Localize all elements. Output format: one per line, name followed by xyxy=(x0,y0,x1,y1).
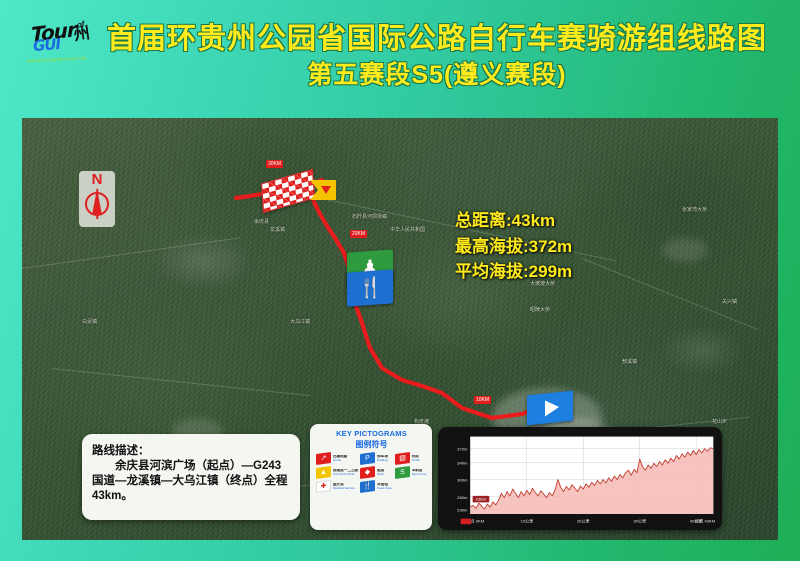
legend-item: ▨终点Finish xyxy=(395,453,427,464)
legend-item: S冲刺点Sprint Line xyxy=(395,467,427,478)
legend-title-english: KEY PICTOGRAMS xyxy=(316,429,427,438)
legend-item: ◆起点Start xyxy=(360,467,392,478)
legend-item-label-en: Route xyxy=(333,459,347,462)
event-logo: Tour of 州 GUI 首届环贵州公园省国际公路自行车赛 xyxy=(24,14,90,70)
legend-item-label-en: Finish xyxy=(412,459,420,462)
km-tag-30: 30KM xyxy=(266,160,283,168)
page-header: Tour of 州 GUI 首届环贵州公园省国际公路自行车赛 首届环贵州公园省国… xyxy=(0,0,800,112)
route-description-body: 余庆县河滨广场（起点）—G243国道—龙溪镇—大乌江镇（终点）全程43km。 xyxy=(92,459,290,505)
y-axis-tick-label: 230m xyxy=(457,508,468,513)
key-pictograms-card: KEY PICTOGRAMS 图例符号 ↗比赛线路RouteP停车场Parkin… xyxy=(310,424,432,530)
legend-item: ↗比赛线路Route xyxy=(316,453,358,464)
y-axis-tick-label: 260m xyxy=(457,495,468,500)
km-tag-10: 10KM xyxy=(474,396,491,404)
compass-rose-icon: N xyxy=(79,171,115,227)
x-axis-tick-label: 30公里 xyxy=(633,517,646,523)
legend-finish-icon: ▨ xyxy=(395,452,410,465)
legend-title-chinese: 图例符号 xyxy=(316,439,427,450)
y-axis-tick-label: 300m xyxy=(457,478,468,483)
legend-start-icon: ◆ xyxy=(360,466,375,479)
x-axis-tick-label: 10公里 xyxy=(520,517,533,523)
legend-item-text: 补给站Feed Zone xyxy=(377,483,392,490)
logo-gui-text: GUI xyxy=(33,37,61,54)
legend-grid: ↗比赛线路RouteP停车场Parking▨终点Finish▲爬坡点一二三级Ca… xyxy=(316,453,427,492)
fork-knife-icon: 🍴 xyxy=(358,278,383,298)
legend-feed-zone-icon: 🍴 xyxy=(360,480,375,493)
compass-needle-icon xyxy=(82,188,112,220)
legend-route-icon: ↗ xyxy=(316,452,331,465)
page-subtitle: 第五赛段S5(遵义赛段) xyxy=(92,60,782,90)
route-description-title: 路线描述： xyxy=(92,442,290,458)
km-tag-20: 20KM xyxy=(350,230,367,238)
legend-cat-1-2-3-climb-icon: ▲ xyxy=(316,466,331,479)
x-axis-tick-label: 20公里 xyxy=(577,517,590,523)
x-axis-tick-label: 终点 43KM xyxy=(695,517,715,523)
stat-avg-elevation: 平均海拔:299m xyxy=(455,259,572,285)
start-elevation-label: 236m xyxy=(476,497,487,502)
legend-item: 🍴补给站Feed Zone xyxy=(360,481,392,492)
stat-total-distance: 总距离:43km xyxy=(455,208,572,234)
page-title: 首届环贵州公园省国际公路自行车赛骑游组线路图 xyxy=(92,22,782,56)
play-triangle-icon xyxy=(545,399,559,416)
legend-item: ✚医疗点Medical Service xyxy=(316,481,358,492)
stat-max-elevation: 最高海拔:372m xyxy=(455,234,572,260)
y-axis-tick-label: 340m xyxy=(457,461,468,466)
elevation-profile-card: 372m340m300m260m230m起点 0KM10公里20公里30公里40… xyxy=(438,427,722,530)
legend-item-label-en: Cat.1/2/3 Climb xyxy=(333,473,358,476)
legend-item-label-en: Sprint Line xyxy=(412,473,427,476)
route-description-card: 路线描述： 余庆县河滨广场（起点）—G243国道—龙溪镇—大乌江镇（终点）全程4… xyxy=(82,434,300,520)
legend-parking-icon: P xyxy=(360,452,375,465)
compass-north-label: N xyxy=(92,173,103,187)
route-stats: 总距离:43km 最高海拔:372m 平均海拔:299m xyxy=(455,208,572,285)
legend-item-label-en: Medical Service xyxy=(333,487,355,490)
logo-chinese-char: 州 xyxy=(73,26,91,44)
legend-item: ▲爬坡点一二三级Cat.1/2/3 Climb xyxy=(316,467,358,478)
elevation-profile-chart: 372m340m300m260m230m起点 0KM10公里20公里30公里40… xyxy=(441,431,719,527)
legend-item-text: 停车场Parking xyxy=(377,455,388,462)
start-play-marker xyxy=(527,391,573,426)
legend-item-text: 医疗点Medical Service xyxy=(333,483,355,490)
legend-item-text: 比赛线路Route xyxy=(333,455,347,462)
y-axis-tick-label: 372m xyxy=(457,447,468,452)
legend-item-label-en: Feed Zone xyxy=(377,487,392,490)
legend-item-text: 终点Finish xyxy=(412,455,420,462)
logo-subtitle: 首届环贵州公园省国际公路自行车赛 xyxy=(27,57,86,64)
legend-item-text: 起点Start xyxy=(377,469,384,476)
legend-item-label-en: Start xyxy=(377,473,384,476)
legend-item-label-en: Parking xyxy=(377,459,388,462)
legend-medical-service-icon: ✚ xyxy=(316,480,331,493)
feed-zone-pictogram: 🍴 xyxy=(347,269,393,306)
legend-sprint-line-icon: S xyxy=(395,466,410,479)
legend-item-text: 爬坡点一二三级Cat.1/2/3 Climb xyxy=(333,469,358,476)
title-block: 首届环贵州公园省国际公路自行车赛骑游组线路图 第五赛段S5(遵义赛段) xyxy=(92,22,782,90)
legend-item-text: 冲刺点Sprint Line xyxy=(412,469,427,476)
legend-item: P停车场Parking xyxy=(360,453,392,464)
